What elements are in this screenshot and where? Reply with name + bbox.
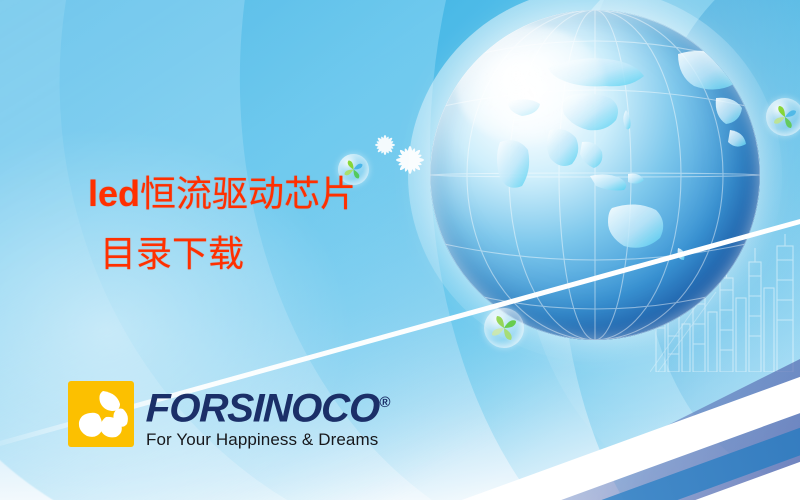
pinwheel-bubble-icon bbox=[484, 308, 524, 348]
pinwheel-bubble-icon bbox=[766, 98, 800, 136]
headline-line-2: 目录下载 bbox=[88, 224, 356, 284]
starburst-flower-icon bbox=[392, 142, 428, 183]
brand-logo[interactable]: FORSINOCO® For Your Happiness & Dreams bbox=[68, 381, 390, 450]
forsinoco-pinwheel-mark-icon bbox=[68, 381, 134, 447]
registered-trademark-symbol: ® bbox=[379, 394, 391, 411]
page-title: led恒流驱动芯片 目录下载 bbox=[88, 164, 356, 284]
logo-tagline: For Your Happiness & Dreams bbox=[146, 430, 390, 450]
logo-wordmark-text: FORSINOCO bbox=[145, 386, 380, 430]
headline-cjk: 恒流驱动芯片 bbox=[140, 174, 356, 214]
logo-text-block: FORSINOCO® For Your Happiness & Dreams bbox=[146, 381, 390, 450]
logo-wordmark: FORSINOCO® bbox=[145, 383, 391, 428]
headline-latin: led bbox=[88, 173, 140, 214]
globe-rim-light bbox=[430, 10, 760, 340]
promo-banner: led恒流驱动芯片 目录下载 FORSINOCO® For Your Happi… bbox=[0, 0, 800, 500]
globe-sphere bbox=[430, 10, 760, 340]
earth-globe bbox=[430, 10, 760, 340]
headline-line-1: led恒流驱动芯片 bbox=[88, 164, 356, 224]
